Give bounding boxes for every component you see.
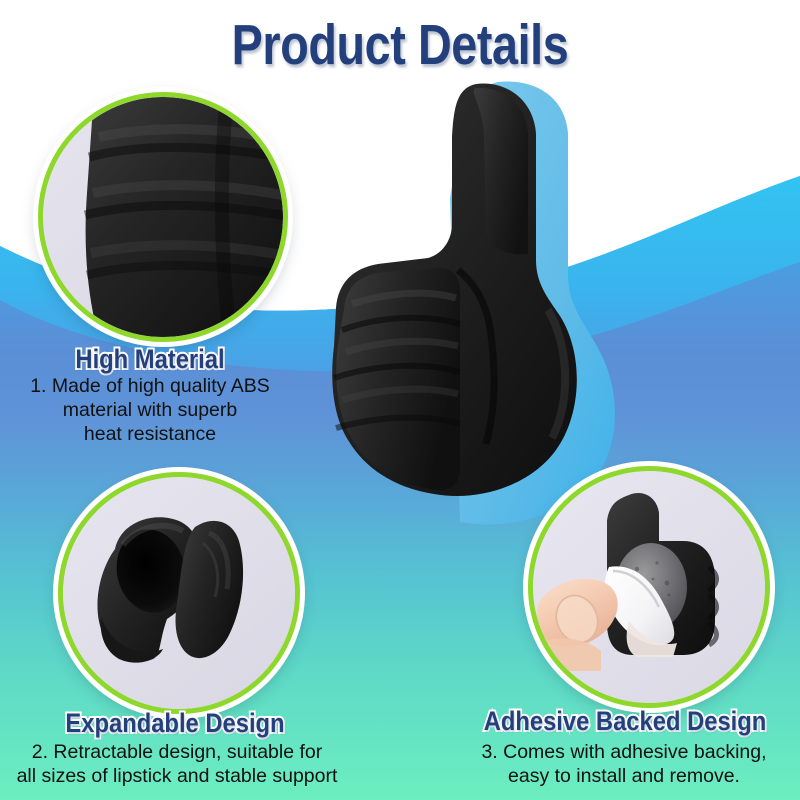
- hero-product-image: [300, 78, 660, 528]
- feature-image-expandable-design: [58, 472, 300, 714]
- adhesive-backed-peel-photo: [533, 471, 765, 703]
- product-details-poster: Product Details: [0, 0, 800, 800]
- feature-body-high-material: 1. Made of high quality ABS material wit…: [0, 374, 300, 446]
- feature-image-adhesive-backed-design: [528, 466, 770, 708]
- page-title: Product Details: [72, 14, 728, 76]
- feature-heading-adhesive-backed-design: Adhesive Backed Design: [471, 706, 779, 736]
- expandable-design-backview: [63, 477, 295, 709]
- feature-body-adhesive-backed-design: 3. Comes with adhesive backing, easy to …: [448, 740, 800, 788]
- feature-heading-high-material: High Material: [18, 344, 282, 374]
- feature-image-high-material: [38, 92, 288, 342]
- feature-body-expandable-design: 2. Retractable design, suitable for all …: [0, 740, 354, 788]
- high-material-closeup: [43, 97, 283, 337]
- feature-heading-expandable-design: Expandable Design: [21, 708, 329, 738]
